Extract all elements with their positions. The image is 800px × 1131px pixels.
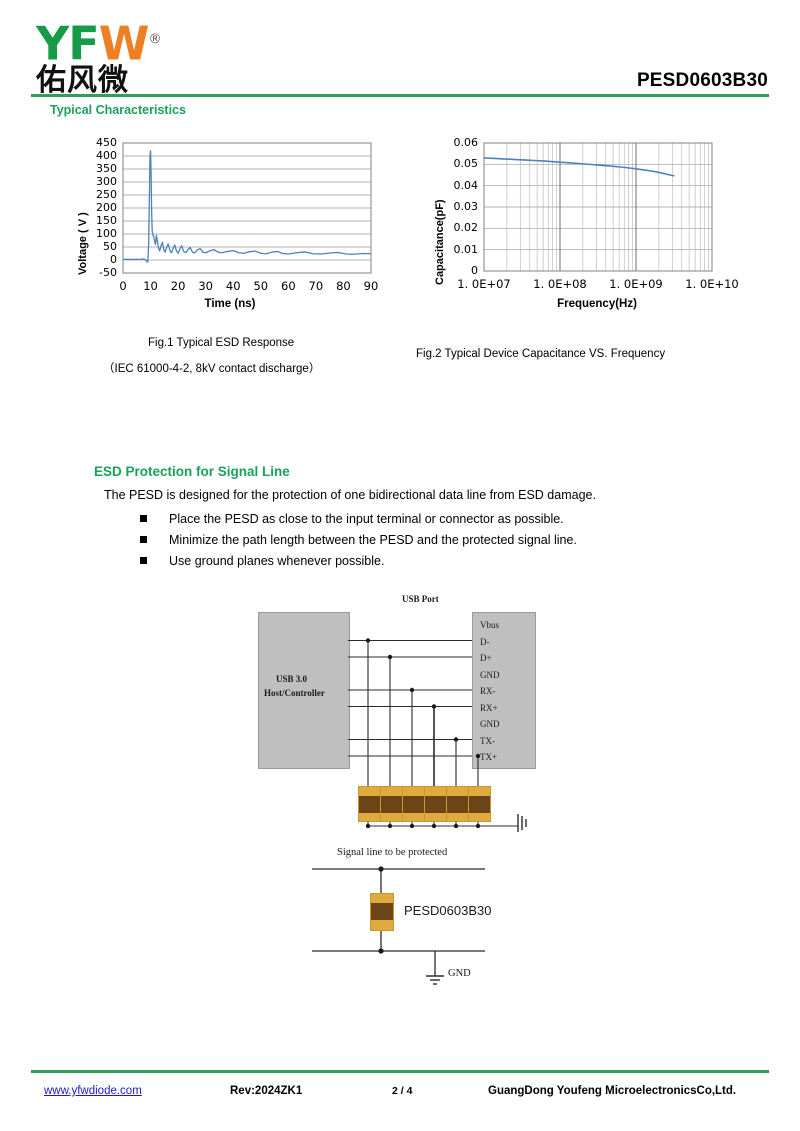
chart2-x-axis-title: Frequency(Hz) [442,298,752,310]
chip-body [469,796,490,813]
chart2-y-tick: 0.06 [432,136,478,149]
chart1-y-tick: 300 [75,175,117,188]
bullet-square-icon [140,515,147,522]
list-item: Place the PESD as close to the input ter… [140,512,564,526]
chip-body [425,796,446,813]
footer-revision: Rev:2024ZK1 [230,1085,302,1097]
chart2-x-tick: 1. 0E+09 [598,277,674,291]
footer-divider [31,1070,769,1073]
bullet-square-icon [140,536,147,543]
chart1-x-tick: 90 [356,279,386,293]
chart1-data-series [123,151,371,262]
list-item-label: Use ground planes whenever possible. [169,554,384,568]
tvs-diode-chip [402,786,425,822]
chart1-y-tick: 150 [75,214,117,227]
signal-line-protection-diagram: Signal line to be protected PESD0603B30 … [280,835,560,995]
chart1-y-tick: 250 [75,188,117,201]
chart1-x-tick: 20 [163,279,193,293]
chart1-y-tick: 200 [75,201,117,214]
chip-body [359,796,380,813]
list-item: Use ground planes whenever possible. [140,554,384,568]
chart1-x-tick: 70 [301,279,331,293]
tvs-diode-chip [468,786,491,822]
figure1-caption-line2: （IEC 61000-4-2, 8kV contact discharge） [103,360,320,376]
tvs-diode-chip [358,786,381,822]
chart2-data-series [484,158,674,176]
chart1-y-tick: 50 [75,240,117,253]
chart1-x-tick: 10 [136,279,166,293]
list-item-label: Place the PESD as close to the input ter… [169,512,564,526]
chart1-x-tick: 40 [218,279,248,293]
logo-letters-yf: YF [36,16,99,70]
logo-wordmark: YFW® [36,18,236,65]
bullet-square-icon [140,557,147,564]
chart1-y-tick: 400 [75,149,117,162]
footer-company-name: GuangDong Youfeng MicroelectronicsCo,Ltd… [488,1085,736,1097]
ground-label: GND [448,968,471,979]
footer-page-number: 2 / 4 [392,1085,412,1097]
device-part-label: PESD0603B30 [404,903,491,918]
header-divider [31,94,769,97]
chart1-y-tick: -50 [75,266,117,279]
list-item-label: Minimize the path length between the PES… [169,533,577,547]
part-number: PESD0603B30 [637,70,768,92]
chart2-y-tick: 0.05 [432,157,478,170]
footer-website-link[interactable]: www.yfwdiode.com [44,1085,142,1097]
chart1-x-tick: 80 [328,279,358,293]
company-logo: YFW® 佑风微 [36,18,236,96]
chart1-x-tick: 0 [108,279,138,293]
chip-body [403,796,424,813]
figure1-caption-line1: Fig.1 Typical ESD Response [148,337,294,349]
logo-chinese-name: 佑风微 [36,66,236,96]
chart2-x-tick: 1. 0E+08 [522,277,598,291]
ground-symbol-icon [512,812,552,836]
section-title-esd-protection: ESD Protection for Signal Line [94,464,290,479]
chart2-y-tick: 0.01 [432,243,478,256]
datasheet-page: YFW® 佑风微 PESD0603B30 Typical Characteris… [0,0,800,1131]
tvs-diode-chip [446,786,469,822]
chart2-y-tick: 0.04 [432,179,478,192]
chart2-y-tick: 0 [432,264,478,277]
list-item: Minimize the path length between the PES… [140,533,577,547]
registered-trademark-icon: ® [148,32,160,47]
chart-capacitance-vs-frequency: Capacitance(pF) Frequency(Hz) 00.010.020… [432,135,742,315]
esd-intro-text: The PESD is designed for the protection … [104,488,596,502]
chart1-y-tick: 350 [75,162,117,175]
chart1-x-axis-title: Time (ns) [75,298,385,310]
logo-letter-w: W [99,16,149,70]
chart2-y-tick: 0.03 [432,200,478,213]
chart1-x-tick: 60 [273,279,303,293]
chart2-x-tick: 1. 0E+07 [446,277,522,291]
tvs-diode-chip [424,786,447,822]
chart1-x-tick: 30 [191,279,221,293]
chart-esd-response: Voltage ( V ) Time (ns) -500501001502002… [75,135,385,315]
chart2-y-tick: 0.02 [432,221,478,234]
figure2-caption: Fig.2 Typical Device Capacitance VS. Fre… [416,348,665,360]
chart2-x-tick: 1. 0E+10 [674,277,750,291]
tvs-diode-chip [380,786,403,822]
section-title-typical-characteristics: Typical Characteristics [50,103,186,117]
chart1-y-tick: 0 [75,253,117,266]
chart1-x-tick: 50 [246,279,276,293]
chart1-y-tick: 450 [75,136,117,149]
pesd-device-symbol [370,893,394,931]
chip-body [381,796,402,813]
chip-body [447,796,468,813]
chart1-y-tick: 100 [75,227,117,240]
